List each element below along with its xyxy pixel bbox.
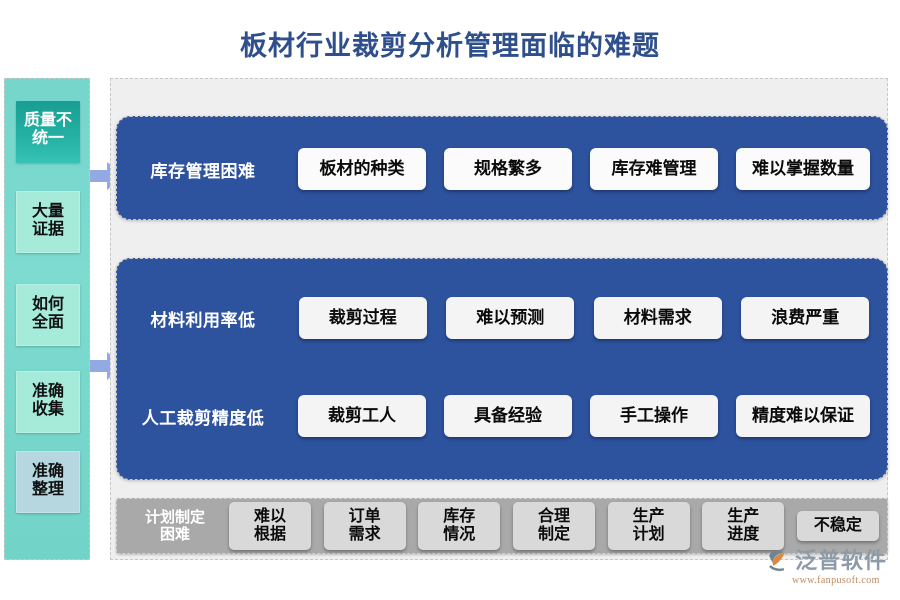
- sidebar-item-comprehensive-line1: 如何: [17, 296, 79, 314]
- bottom-item-box[interactable]: 合理 制定: [513, 502, 595, 551]
- panel-row-material-utilisation: 材料利用率低 裁剪过程 难以预测 材料需求 浪费严重: [117, 287, 887, 349]
- sidebar-item-quality-line2: 统一: [16, 130, 80, 148]
- row-items-manual-precision: 裁剪工人 具备经验 手工操作 精度难以保证: [289, 395, 887, 438]
- bottom-bar-label: 计划制定 困难: [125, 509, 225, 544]
- bottom-bar-items: 难以 根据 订单 需求 库存 情况 合理 制定 生产 计划 生产 进度: [225, 502, 879, 551]
- bottom-item-line1: 难以: [239, 508, 301, 526]
- item-box[interactable]: 裁剪工人: [298, 395, 426, 438]
- bottom-item-line1: 订单: [334, 508, 396, 526]
- planning-bar: 计划制定 困难 难以 根据 订单 需求 库存 情况 合理 制定 生产 计划: [116, 498, 888, 554]
- item-box[interactable]: 具备经验: [444, 395, 572, 438]
- bottom-item-box[interactable]: 生产 进度: [702, 502, 784, 551]
- sidebar-item-organize-line2: 整理: [17, 481, 79, 499]
- inventory-panel: 库存管理困难 板材的种类 规格繁多 库存难管理 难以掌握数量: [116, 116, 888, 220]
- sidebar-item-organize-line1: 准确: [17, 463, 79, 481]
- row-items-material-utilisation: 裁剪过程 难以预测 材料需求 浪费严重: [289, 297, 887, 340]
- sidebar-item-evidence-line1: 大量: [17, 203, 79, 221]
- watermark-url: www.fanpusoft.com: [792, 575, 896, 586]
- sidebar-item-comprehensive[interactable]: 如何 全面: [16, 284, 80, 346]
- item-box[interactable]: 精度难以保证: [736, 395, 870, 438]
- left-sidebar: 质量不 统一 大量 证据 如何 全面 准确 收集 准确 整理: [4, 78, 90, 560]
- watermark-brand: 泛普软件: [795, 550, 887, 572]
- page-title: 板材行业裁剪分析管理面临的难题: [0, 24, 900, 63]
- sidebar-item-quality[interactable]: 质量不 统一: [16, 101, 80, 163]
- item-box[interactable]: 库存难管理: [590, 148, 718, 191]
- panel-row-manual-precision: 人工裁剪精度低 裁剪工人 具备经验 手工操作 精度难以保证: [117, 385, 887, 447]
- bottom-item-line1: 不稳定: [807, 517, 869, 535]
- bottom-item-box[interactable]: 难以 根据: [229, 502, 311, 551]
- bottom-item-line1: 库存: [428, 508, 490, 526]
- row-label-manual-precision: 人工裁剪精度低: [117, 404, 289, 429]
- bottom-item-box[interactable]: 库存 情况: [418, 502, 500, 551]
- bottom-item-line2: 进度: [712, 526, 774, 544]
- bottom-item-line1: 生产: [712, 508, 774, 526]
- bottom-item-box[interactable]: 订单 需求: [324, 502, 406, 551]
- arrow-shaft: [90, 170, 108, 182]
- sidebar-item-quality-line1: 质量不: [16, 112, 80, 130]
- sidebar-item-collect-line2: 收集: [17, 401, 79, 419]
- item-box[interactable]: 材料需求: [594, 297, 722, 340]
- row-label-inventory: 库存管理困难: [117, 157, 289, 182]
- material-panel: 材料利用率低 裁剪过程 难以预测 材料需求 浪费严重 人工裁剪精度低 裁剪工人 …: [116, 258, 888, 480]
- item-box[interactable]: 浪费严重: [741, 297, 869, 340]
- bottom-bar-label-line2: 困难: [125, 526, 225, 543]
- sidebar-item-collect-line1: 准确: [17, 383, 79, 401]
- sidebar-item-organize[interactable]: 准确 整理: [16, 451, 80, 513]
- item-box[interactable]: 裁剪过程: [299, 297, 427, 340]
- bottom-item-line1: 合理: [523, 508, 585, 526]
- bottom-item-line2: 制定: [523, 526, 585, 544]
- bottom-item-box[interactable]: 不稳定: [797, 511, 879, 541]
- row-label-material-utilisation: 材料利用率低: [117, 306, 289, 331]
- sidebar-item-evidence[interactable]: 大量 证据: [16, 191, 80, 253]
- bottom-item-line2: 情况: [428, 526, 490, 544]
- bottom-item-line1: 生产: [618, 508, 680, 526]
- bottom-item-line2: 需求: [334, 526, 396, 544]
- bottom-item-box[interactable]: 生产 计划: [608, 502, 690, 551]
- item-box[interactable]: 难以掌握数量: [736, 148, 870, 191]
- row-items-inventory: 板材的种类 规格繁多 库存难管理 难以掌握数量: [289, 148, 887, 191]
- arrow-shaft: [90, 360, 108, 372]
- sidebar-item-evidence-line2: 证据: [17, 221, 79, 239]
- item-box[interactable]: 手工操作: [590, 395, 718, 438]
- watermark-row: 泛普软件: [766, 548, 896, 574]
- fanpu-logo-icon: [766, 548, 792, 574]
- item-box[interactable]: 板材的种类: [298, 148, 426, 191]
- infographic-page: 板材行业裁剪分析管理面临的难题 质量不 统一 大量 证据 如何 全面 准确 收集…: [0, 0, 900, 600]
- sidebar-item-comprehensive-line2: 全面: [17, 314, 79, 332]
- item-box[interactable]: 规格繁多: [444, 148, 572, 191]
- panel-row-inventory: 库存管理困难 板材的种类 规格繁多 库存难管理 难以掌握数量: [117, 138, 887, 200]
- bottom-item-line2: 计划: [618, 526, 680, 544]
- watermark: 泛普软件 www.fanpusoft.com: [766, 548, 896, 594]
- bottom-item-line2: 根据: [239, 526, 301, 544]
- item-box[interactable]: 难以预测: [446, 297, 574, 340]
- sidebar-item-collect[interactable]: 准确 收集: [16, 371, 80, 433]
- bottom-bar-label-line1: 计划制定: [125, 509, 225, 526]
